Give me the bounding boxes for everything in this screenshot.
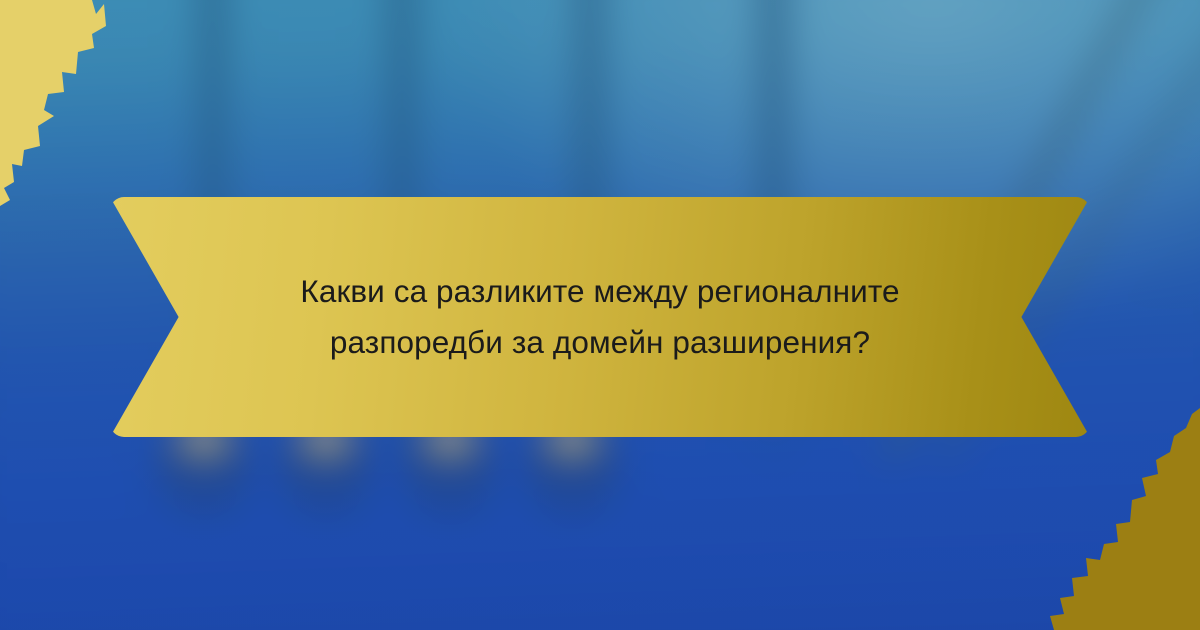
torn-paper-corner-top-left (0, 0, 180, 230)
question-line-2: разпоредби за домейн разширения? (330, 317, 870, 368)
question-banner: Какви са разликите между регионалните ра… (110, 197, 1090, 437)
share-card: Какви са разликите между регионалните ра… (0, 0, 1200, 630)
question-line-1: Какви са разликите между регионалните (300, 266, 899, 317)
question-text: Какви са разликите между регионалните ра… (240, 197, 960, 437)
